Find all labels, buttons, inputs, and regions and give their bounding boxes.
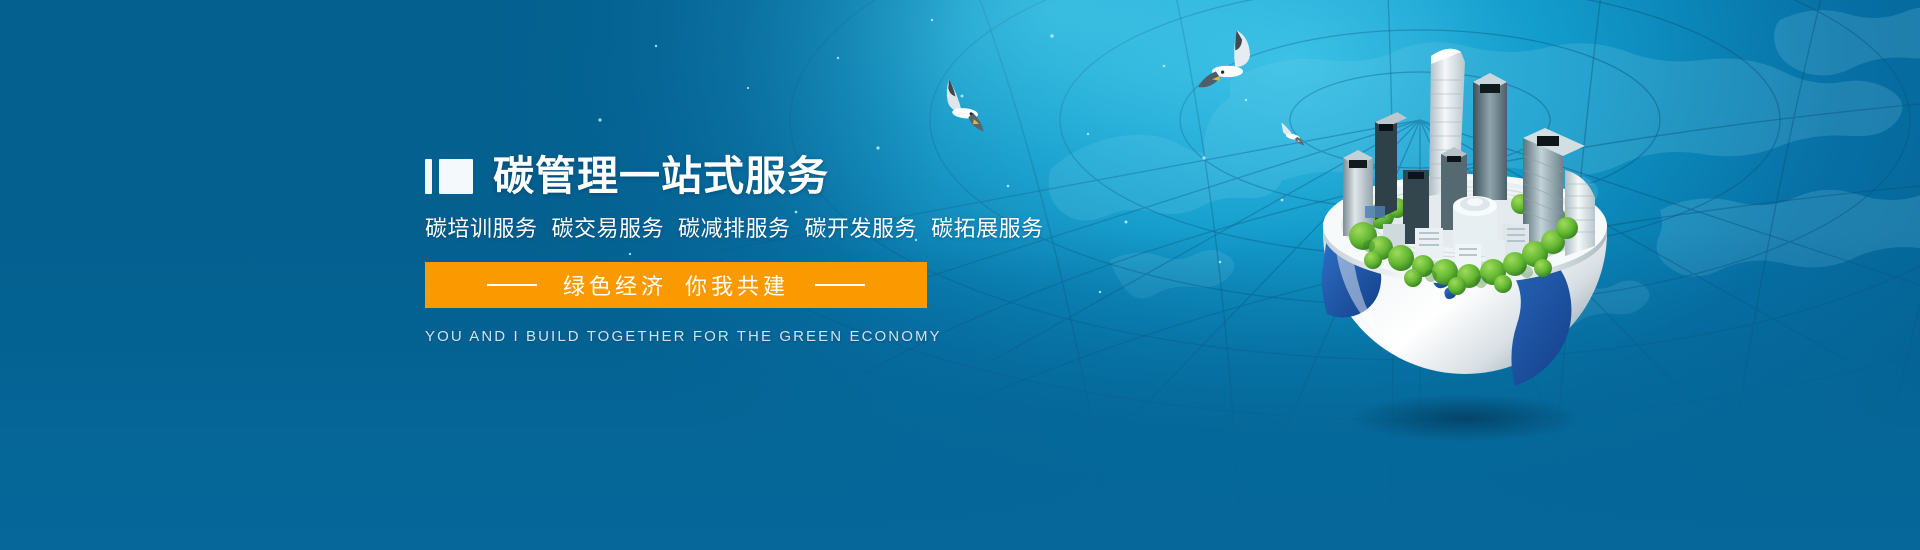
slogan-part-right: 你我共建 xyxy=(685,274,789,299)
mark-square-icon xyxy=(439,159,473,194)
banner-copy-block: 碳管理一站式服务 碳培训服务碳交易服务碳减排服务碳开发服务碳拓展服务 绿色经济你… xyxy=(425,150,1065,345)
ribbon-dash-left-icon xyxy=(487,284,537,286)
bar-square-mark-icon xyxy=(425,159,473,194)
service-item-4: 碳开发服务 xyxy=(805,216,918,241)
slogan-ribbon: 绿色经济你我共建 xyxy=(425,262,927,308)
mark-bar-icon xyxy=(425,159,432,194)
english-tagline: YOU AND I BUILD TOGETHER FOR THE GREEN E… xyxy=(425,328,1065,345)
ribbon-dash-right-icon xyxy=(815,284,865,286)
title-row: 碳管理一站式服务 xyxy=(425,150,1065,202)
service-list: 碳培训服务碳交易服务碳减排服务碳开发服务碳拓展服务 xyxy=(425,218,1065,240)
service-item-3: 碳减排服务 xyxy=(678,216,791,241)
globe-city-artwork xyxy=(1265,20,1665,450)
ribbon-slogan: 绿色经济你我共建 xyxy=(563,269,789,301)
service-item-5: 碳拓展服务 xyxy=(931,216,1044,241)
service-item-2: 碳交易服务 xyxy=(552,216,665,241)
page-title: 碳管理一站式服务 xyxy=(493,156,829,197)
hero-banner: 碳管理一站式服务 碳培训服务碳交易服务碳减排服务碳开发服务碳拓展服务 绿色经济你… xyxy=(0,0,1920,550)
service-item-1: 碳培训服务 xyxy=(425,216,538,241)
slogan-part-left: 绿色经济 xyxy=(563,274,667,299)
